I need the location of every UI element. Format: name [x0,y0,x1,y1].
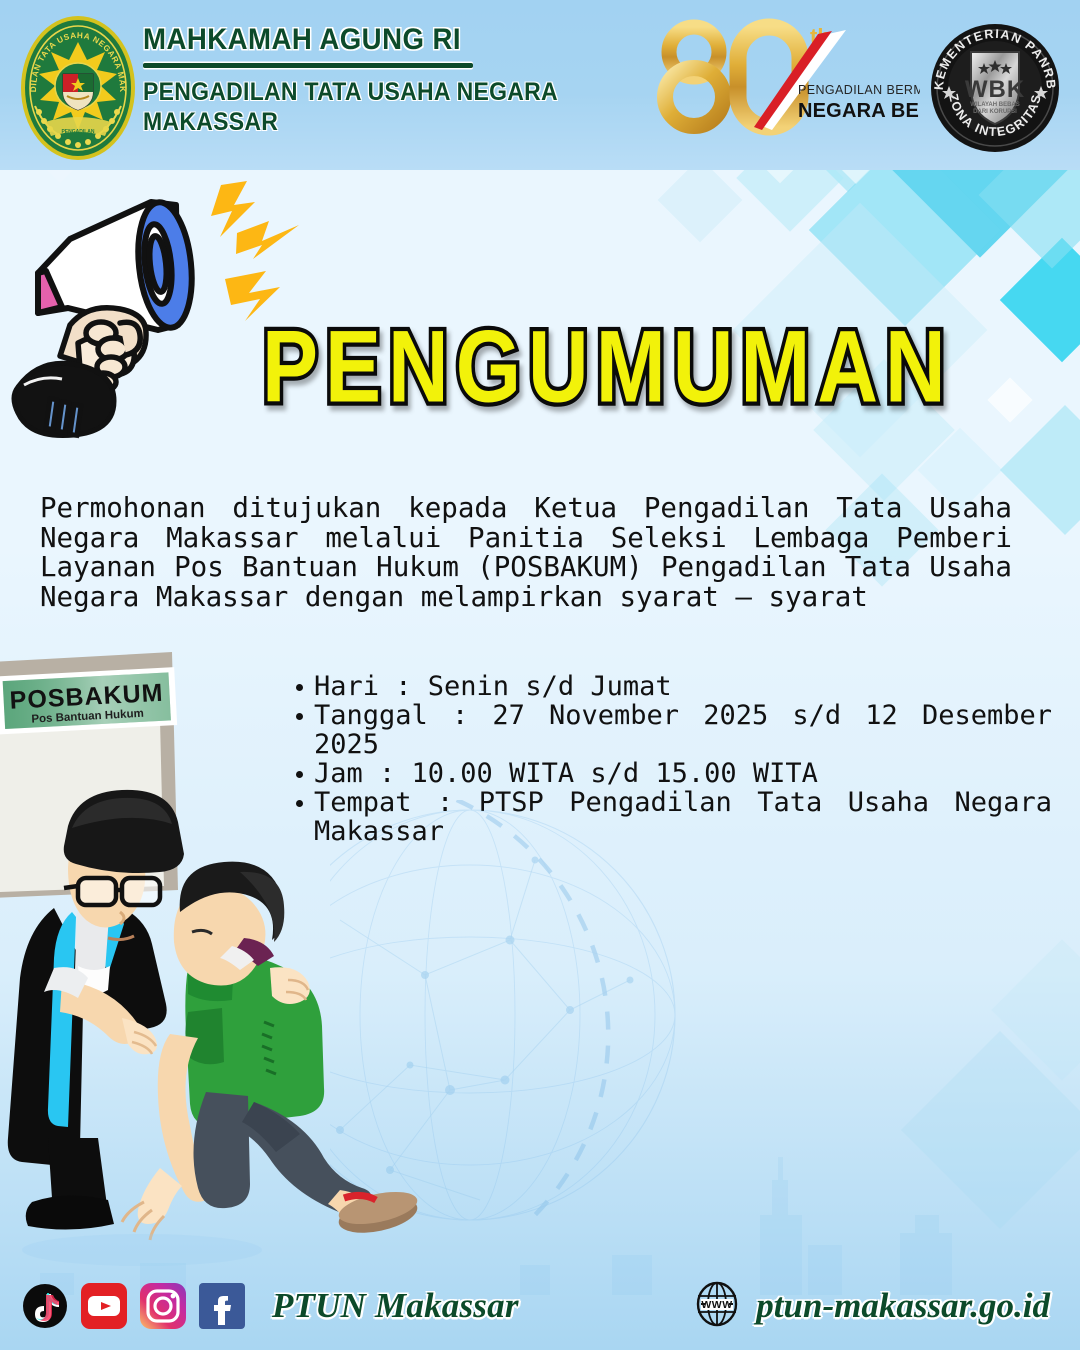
svg-text:WBK: WBK [965,76,1025,103]
anniv-tagline-big: NEGARA BERDAULAT [798,100,920,122]
list-item: Jam : 10.00 WITA s/d 15.00 WITA [292,759,1052,788]
website-group[interactable]: WWW ptun-makassar.go.id [692,1279,1050,1334]
court-seal-icon: PENGADILAN TATA USAHA NEGARA MAKASSAR [17,12,139,164]
social-links: PTUN Makassar [22,1283,519,1329]
list-item: Tanggal : 27 November 2025 s/d 12 Desemb… [292,701,1052,759]
poster-footer: PTUN Makassar WWW ptun-makassar.go.id [0,1262,1080,1350]
svg-text:WWW: WWW [702,1299,733,1311]
header-title-block: MAHKAMAH AGUNG RI PENGADILAN TATA USAHA … [143,24,663,138]
facebook-icon[interactable] [199,1283,245,1329]
institution-name-line2: PENGADILAN TATA USAHA NEGARA [143,77,621,108]
list-item: Tempat : PTSP Pengadilan Tata Usaha Nega… [292,788,1052,846]
svg-text:WILAYAH BEBAS: WILAYAH BEBAS [970,102,1020,108]
header-divider [143,63,473,68]
announcement-paragraph: Permohonan ditujukan kepada Ketua Pengad… [40,494,1012,612]
announcement-details-list: Hari : Senin s/d Jumat Tanggal : 27 Nove… [292,672,1052,846]
youtube-icon[interactable] [81,1283,127,1329]
website-url[interactable]: ptun-makassar.go.id [756,1286,1050,1326]
svg-text:DARI KORUPSI: DARI KORUPSI [973,109,1017,115]
svg-text:PENGADILAN: PENGADILAN [61,129,94,135]
anniv-tagline-small: PENGADILAN BERMARTABAT [798,83,920,97]
institution-name-line3: MAKASSAR [143,107,621,138]
announcement-poster: PENGADILAN TATA USAHA NEGARA MAKASSAR [0,0,1080,1350]
poster-header: PENGADILAN TATA USAHA NEGARA MAKASSAR [0,0,1080,170]
globe-www-icon: WWW [692,1279,742,1334]
wbk-zona-integritas-icon: KEMENTERIAN PANRB ZONA INTEGRITAS WBK [925,18,1065,158]
page-title: PENGUMUMAN [262,307,953,425]
tiktok-icon[interactable] [22,1283,68,1329]
social-handle: PTUN Makassar [272,1286,519,1326]
institution-name-line1: MAHKAMAH AGUNG RI [143,24,621,56]
anniversary-80-icon: th PENGADILAN BERMARTABAT NEGARA BERDAUL… [650,18,920,136]
list-item: Hari : Senin s/d Jumat [292,672,1052,701]
instagram-icon[interactable] [140,1283,186,1329]
